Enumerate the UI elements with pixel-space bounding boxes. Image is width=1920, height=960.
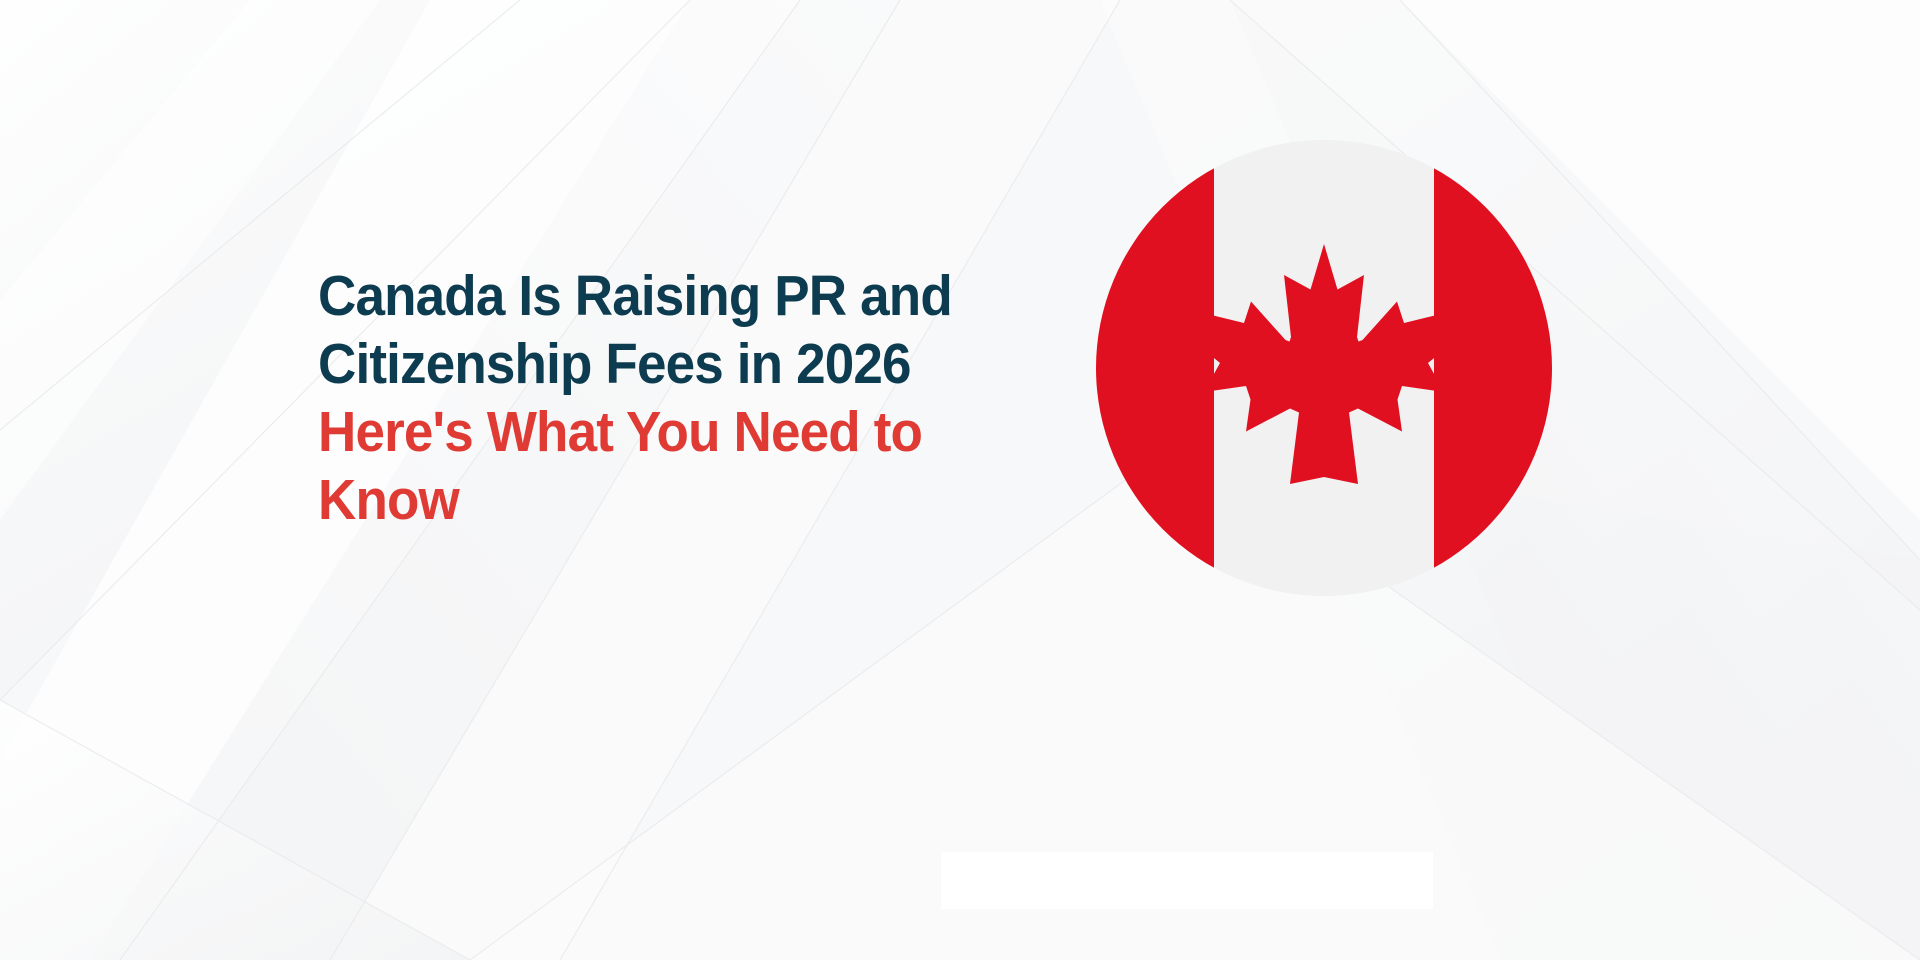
lower-white-plate (941, 852, 1433, 909)
canada-flag-circle (1096, 140, 1552, 596)
headline-line-1: Canada Is Raising PR and (318, 262, 1053, 330)
headline-line-3: Here's What You Need to (318, 398, 1053, 466)
canada-flag-icon (1096, 140, 1552, 596)
flag-red-band-left (1096, 140, 1214, 596)
flag-red-band-right (1434, 140, 1552, 596)
headline-line-4: Know (318, 466, 1053, 534)
banner-canvas: Canada Is Raising PR and Citizenship Fee… (0, 0, 1920, 960)
headline-line-2: Citizenship Fees in 2026 (318, 330, 1053, 398)
headline-block: Canada Is Raising PR and Citizenship Fee… (318, 262, 1108, 534)
